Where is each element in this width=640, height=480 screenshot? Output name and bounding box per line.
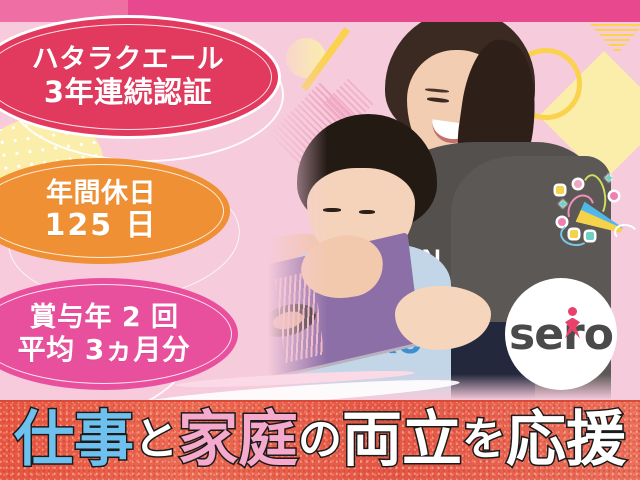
tagline-part-2: 家庭 xyxy=(178,410,298,470)
serio-logo[interactable]: sero xyxy=(505,278,617,390)
confetti-circle-pink xyxy=(574,180,582,188)
badge-inner-ring xyxy=(0,24,272,130)
badge-inner-ring xyxy=(0,284,232,384)
baby-eye-right xyxy=(359,210,375,214)
ribbon-blue xyxy=(559,222,592,248)
party-popper-icon xyxy=(548,168,634,260)
tagline-banner: 仕事と家庭の両立を応援 xyxy=(0,400,640,480)
serio-person-icon xyxy=(565,307,580,341)
confetti-circle-pink-2 xyxy=(610,192,618,200)
tagline-text: 仕事と家庭の両立を応援 xyxy=(0,400,640,480)
tagline-part-3: の xyxy=(298,410,342,470)
serio-logo-text: sero xyxy=(509,309,613,360)
recruitment-banner-ad[interactable]: ION a ke xyxy=(0,0,640,480)
person-icon-head xyxy=(568,307,577,316)
tagline-part-6: 応援 xyxy=(506,410,626,470)
confetti-square-yellow xyxy=(556,186,564,194)
person-icon-body xyxy=(565,318,580,339)
tagline-part-1: と xyxy=(134,410,178,470)
tagline-part-4: 両立 xyxy=(342,410,462,470)
serio-logo-text-tail: o xyxy=(584,309,613,360)
confetti-star-teal-2 xyxy=(606,180,615,189)
badge-inner-ring xyxy=(0,164,224,258)
tagline-part-0: 仕事 xyxy=(14,410,134,470)
tagline-part-5: を xyxy=(462,410,506,470)
